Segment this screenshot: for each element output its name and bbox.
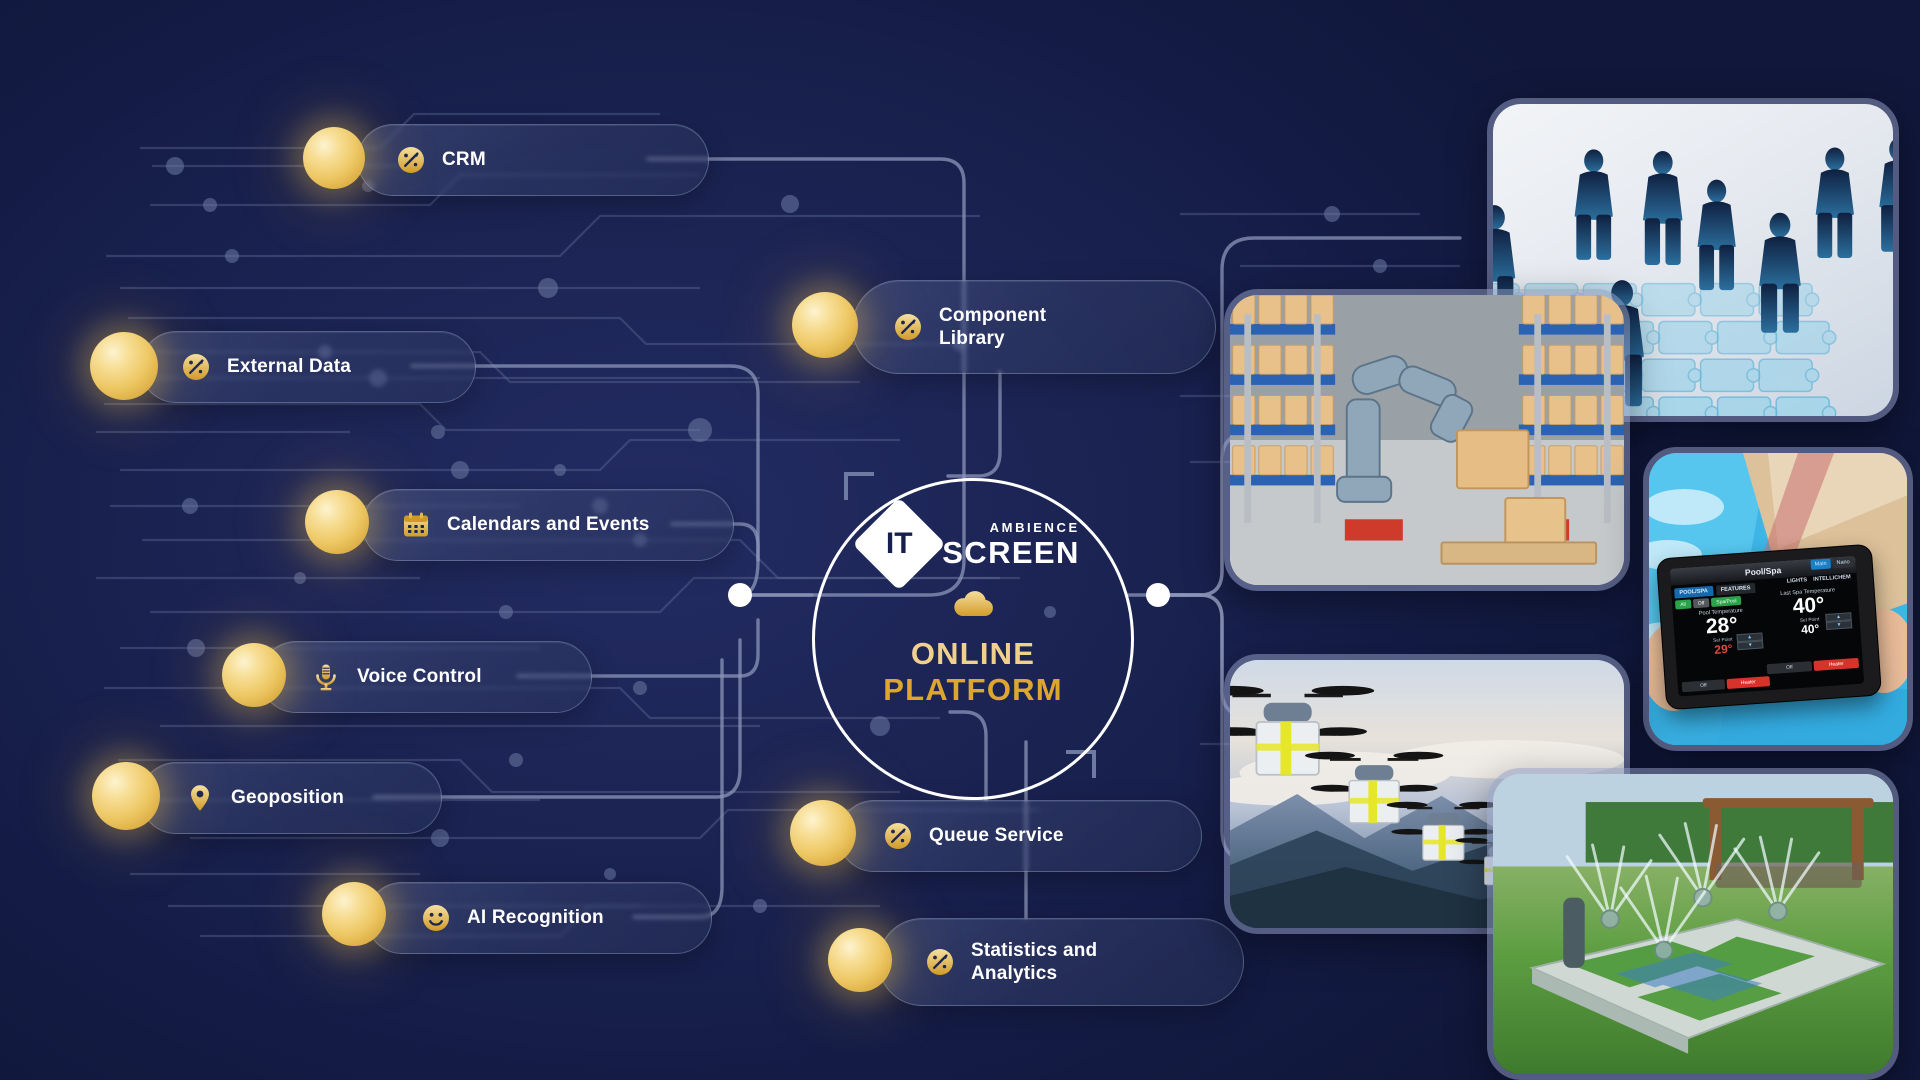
tagline-platform: PLATFORM (883, 672, 1063, 708)
pin-icon (185, 783, 215, 813)
node-orb-middle-2 (828, 928, 892, 992)
node-orb-left-3 (222, 643, 286, 707)
cloud-icon (951, 591, 995, 624)
feature-pill-queue-service[interactable]: Queue Service (838, 800, 1202, 872)
tablet-status-chip[interactable]: Spa/Pool (1711, 596, 1742, 607)
feature-node: External Data (140, 331, 476, 403)
feature-node: Queue Service (838, 800, 1202, 872)
node-orb-left-2 (305, 490, 369, 554)
feature-pill-ai-recognition[interactable]: AI Recognition (366, 882, 712, 954)
feature-label: Queue Service (929, 824, 1064, 847)
node-orb-left-5 (322, 882, 386, 946)
feature-label: Voice Control (357, 665, 482, 688)
microphone-icon (311, 662, 341, 692)
feature-pill-crm[interactable]: CRM (357, 124, 709, 196)
brand-ambience-label: AMBIENCE (990, 521, 1080, 534)
pool-spa-tablet-card[interactable]: Pool/Spa MainNano POOL/SPAFEATURES LIGHT… (1643, 447, 1913, 751)
tablet-tab[interactable]: LIGHTS (1787, 577, 1808, 584)
tablet-status-chip[interactable]: All (1675, 599, 1691, 609)
node-orb-middle-1 (790, 800, 856, 866)
feature-node: Component Library (852, 280, 1216, 374)
smart-irrigation-card[interactable] (1487, 768, 1899, 1080)
tablet-tab[interactable]: POOL/SPA (1674, 586, 1713, 599)
feature-pill-external-data[interactable]: External Data (140, 331, 476, 403)
pool-spa-tablet-card-image: Pool/Spa MainNano POOL/SPAFEATURES LIGHT… (1649, 453, 1907, 745)
infographic-canvas: CRM External Data Calendars and Events (0, 0, 1920, 1080)
feature-label: External Data (227, 355, 351, 378)
it-diamond-icon: IT (853, 497, 946, 590)
platform-tagline: ONLINE PLATFORM (883, 636, 1063, 708)
feature-label: Geoposition (231, 786, 344, 809)
node-orb-left-1 (90, 332, 158, 400)
feature-node: Voice Control (260, 641, 592, 713)
feature-label: Calendars and Events (447, 513, 650, 536)
spa-heater-button[interactable]: Heater (1813, 658, 1859, 671)
tablet-top-tab[interactable]: Main (1810, 559, 1831, 570)
node-orb-middle-0 (792, 292, 858, 358)
feature-node: Calendars and Events (362, 489, 734, 561)
feature-node: Statistics and Analytics (878, 918, 1244, 1006)
brand-screen-label: SCREEN (942, 537, 1080, 568)
feature-node: AI Recognition (366, 882, 712, 954)
gauge-icon (396, 145, 426, 175)
pool-heater-button[interactable]: Heater (1727, 676, 1771, 689)
feature-pill-statistics-and-analytics[interactable]: Statistics and Analytics (878, 918, 1244, 1006)
feature-pill-calendars-and-events[interactable]: Calendars and Events (362, 489, 734, 561)
tablet-top-tab[interactable]: Nano (1832, 557, 1854, 568)
smart-irrigation-card-image (1493, 774, 1893, 1074)
warehouse-robot-card[interactable] (1224, 289, 1630, 591)
gauge-icon (925, 947, 955, 977)
smiley-icon (421, 903, 451, 933)
tablet-tab[interactable]: INTELLICHEM (1813, 574, 1851, 583)
calendar-icon (401, 510, 431, 540)
warehouse-robot-card-image (1230, 295, 1624, 585)
tablet-status-chip[interactable]: Off (1692, 598, 1709, 608)
gauge-icon (181, 352, 211, 382)
spa-off-button[interactable]: Off (1767, 661, 1813, 674)
tablet-tab[interactable]: FEATURES (1715, 583, 1755, 596)
feature-label: Component Library (939, 304, 1046, 350)
feature-node: CRM (357, 124, 709, 196)
tagline-online: ONLINE (883, 636, 1063, 672)
tablet-title: Pool/Spa (1745, 565, 1782, 578)
feature-label: AI Recognition (467, 906, 604, 929)
node-orb-left-0 (303, 127, 365, 189)
feature-label: Statistics and Analytics (971, 939, 1097, 985)
feature-label: CRM (442, 148, 486, 171)
feature-pill-geoposition[interactable]: Geoposition (140, 762, 442, 834)
brand-logo: IT AMBIENCE SCREEN (866, 511, 1080, 577)
left-junction-dot (728, 583, 752, 607)
feature-pill-component-library[interactable]: Component Library (852, 280, 1216, 374)
gauge-icon (893, 312, 923, 342)
gauge-icon (883, 821, 913, 851)
it-mark-label: IT (886, 527, 913, 561)
node-orb-left-4 (92, 762, 160, 830)
feature-node: Geoposition (140, 762, 442, 834)
right-junction-dot (1146, 583, 1170, 607)
platform-hub[interactable]: IT AMBIENCE SCREEN ONLINE PLATFORM (812, 478, 1134, 800)
feature-pill-voice-control[interactable]: Voice Control (260, 641, 592, 713)
pool-off-button[interactable]: Off (1682, 679, 1726, 692)
